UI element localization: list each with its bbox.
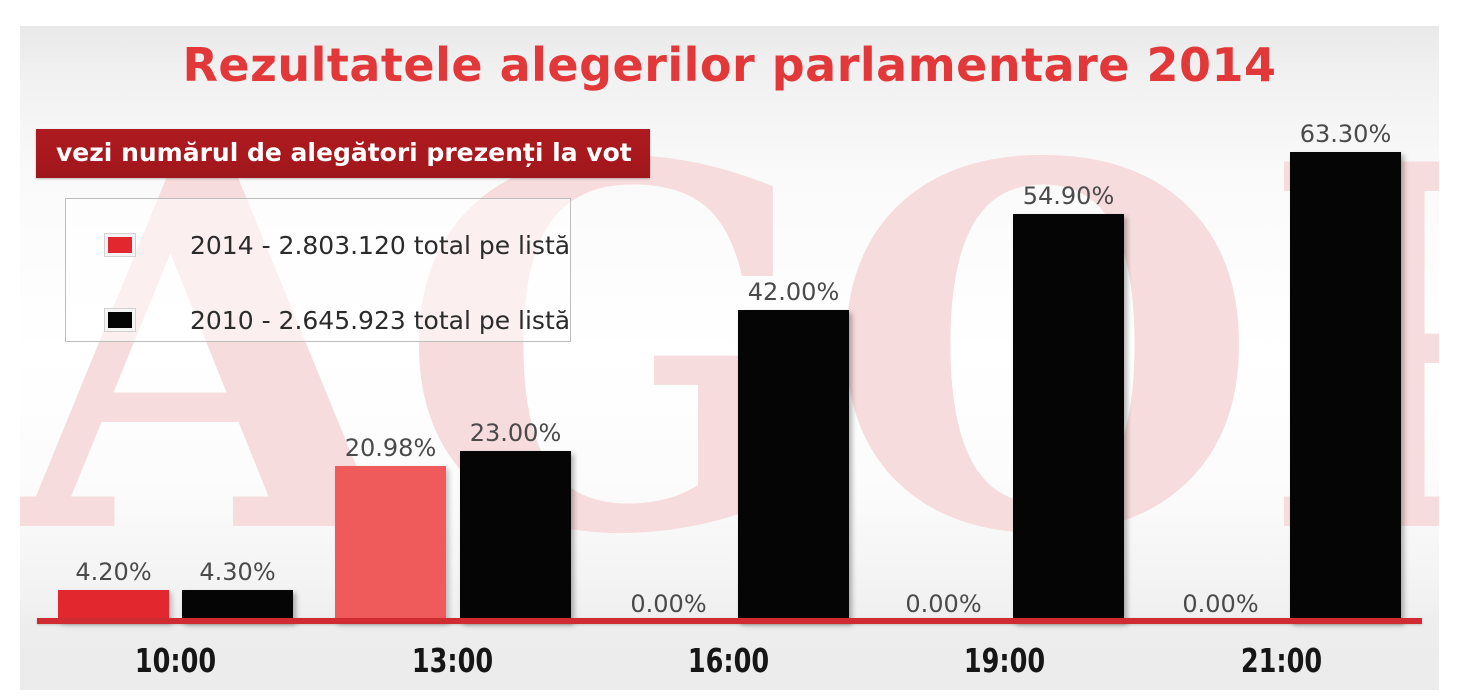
bar-label-2010-1900: 54.90%: [1013, 182, 1124, 210]
bar-label-2010-1300: 23.00%: [460, 419, 571, 447]
x-tick-1300: 13:00: [405, 641, 500, 680]
x-tick-2100: 21:00: [1234, 641, 1329, 680]
bar-label-2014-1000: 4.20%: [58, 558, 169, 586]
chart-screenshot: AGORA Rezultatele alegerilor parlamentar…: [0, 0, 1459, 700]
bar-label-2014-1600: 0.00%: [613, 590, 724, 618]
bar-2010-1300[interactable]: [460, 451, 571, 622]
legend-swatch-2014-icon: [105, 234, 135, 256]
bar-2014-1300[interactable]: [335, 466, 446, 622]
voter-turnout-banner[interactable]: vezi numărul de alegători prezenți la vo…: [36, 129, 650, 178]
axis-baseline: [37, 618, 1422, 624]
x-tick-1900: 19:00: [957, 641, 1052, 680]
legend-item-2010[interactable]: 2010 - 2.645.923 total pe listă: [66, 296, 570, 344]
bar-label-2014-2100: 0.00%: [1165, 590, 1276, 618]
bar-2010-2100[interactable]: [1290, 152, 1401, 622]
bar-2010-1600[interactable]: [738, 310, 849, 622]
bars-layer: 4.20% 4.30% 20.98% 23.00% 0.00% 42.00% 0…: [20, 26, 1439, 690]
legend-swatch-2010-icon: [105, 309, 135, 331]
legend: 2014 - 2.803.120 total pe listă 2010 - 2…: [65, 198, 571, 342]
legend-label-2010: 2010 - 2.645.923 total pe listă: [190, 306, 570, 335]
bar-label-2010-1600: 42.00%: [738, 278, 849, 306]
bar-2010-1900[interactable]: [1013, 214, 1124, 622]
legend-item-2014[interactable]: 2014 - 2.803.120 total pe listă: [66, 221, 570, 269]
x-tick-1600: 16:00: [681, 641, 776, 680]
chart-plot-area: AGORA Rezultatele alegerilor parlamentar…: [20, 26, 1439, 690]
x-tick-1000: 10:00: [128, 641, 223, 680]
bar-label-2014-1300: 20.98%: [335, 434, 446, 462]
bar-label-2010-2100: 63.30%: [1290, 120, 1401, 148]
bar-label-2014-1900: 0.00%: [888, 590, 999, 618]
x-axis: 10:00 13:00 16:00 19:00 21:00: [20, 628, 1439, 684]
bar-label-2010-1000: 4.30%: [182, 558, 293, 586]
legend-label-2014: 2014 - 2.803.120 total pe listă: [190, 231, 570, 260]
